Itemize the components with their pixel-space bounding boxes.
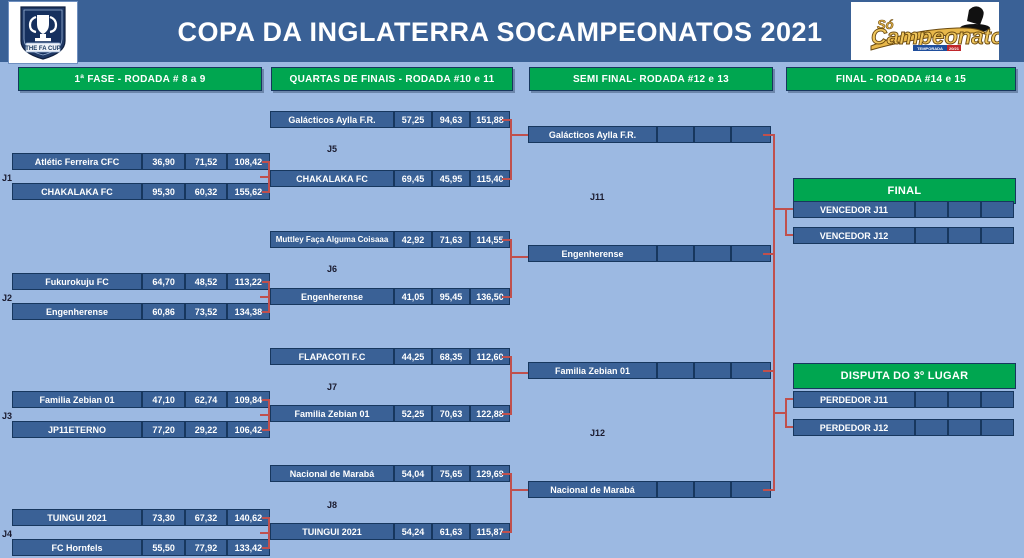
score-leg1: 55,50 — [142, 539, 185, 556]
match-code-j2: J2 — [2, 293, 12, 303]
team-name: PERDEDOR J11 — [793, 391, 915, 408]
match-j11-team-2[interactable]: Engenherense — [528, 245, 771, 262]
score-leg2 — [694, 126, 731, 143]
score-total — [981, 227, 1014, 244]
so-campeonatos-logo-graphic: Só Campeonatos TEMPORADA 20/21 — [851, 2, 999, 60]
score-leg2: 71,63 — [432, 231, 470, 248]
score-leg1: 54,04 — [394, 465, 432, 482]
score-leg2: 60,32 — [185, 183, 226, 200]
final-team-1[interactable]: VENCEDOR J11 — [793, 201, 1014, 218]
third-place-block-title: DISPUTA DO 3º LUGAR — [793, 363, 1016, 389]
score-leg1 — [915, 201, 948, 218]
fa-cup-logo-graphic: THE FA CUP — [15, 5, 71, 61]
match-j3-team-1[interactable]: Familia Zebian 01 47,10 62,74 109,84 — [12, 391, 270, 408]
score-leg2: 71,52 — [185, 153, 226, 170]
connector — [510, 489, 530, 491]
score-leg1: 60,86 — [142, 303, 185, 320]
score-leg2 — [694, 481, 731, 498]
score-leg1: 44,25 — [394, 348, 432, 365]
score-total — [981, 201, 1014, 218]
connector — [260, 296, 270, 298]
team-name: Fukurokuju FC — [12, 273, 142, 290]
team-name: VENCEDOR J11 — [793, 201, 915, 218]
match-j2-team-1[interactable]: Fukurokuju FC 64,70 48,52 113,22 — [12, 273, 270, 290]
connector — [785, 208, 787, 236]
score-total — [981, 391, 1014, 408]
score-leg2 — [694, 245, 731, 262]
connector — [510, 256, 530, 258]
third-place-team-1[interactable]: PERDEDOR J11 — [793, 391, 1014, 408]
connector — [510, 239, 512, 298]
round-header-4: FINAL - RODADA #14 e 15 — [786, 67, 1016, 91]
connector — [785, 426, 793, 428]
team-name: Familia Zebian 01 — [12, 391, 142, 408]
match-j11-team-1[interactable]: Galácticos Aylla F.R. — [528, 126, 771, 143]
team-name: FC Hornfels — [12, 539, 142, 556]
connector — [260, 176, 270, 178]
score-leg1: 36,90 — [142, 153, 185, 170]
match-code-j1: J1 — [2, 173, 12, 183]
final-team-2[interactable]: VENCEDOR J12 — [793, 227, 1014, 244]
team-name: CHAKALAKA FC — [270, 170, 394, 187]
connector — [785, 398, 787, 428]
match-code-j11: J11 — [590, 192, 605, 202]
match-code-j12: J12 — [590, 428, 605, 438]
team-name: Engenherense — [528, 245, 657, 262]
score-leg2: 45,95 — [432, 170, 470, 187]
score-leg1 — [915, 419, 948, 436]
score-leg1 — [657, 245, 694, 262]
connector — [510, 473, 512, 533]
score-leg1: 95,30 — [142, 183, 185, 200]
score-leg1: 77,20 — [142, 421, 185, 438]
connector — [785, 234, 793, 236]
connector — [510, 356, 512, 415]
match-j1-team-1[interactable]: Atlétic Ferreira CFC 36,90 71,52 108,42 — [12, 153, 270, 170]
so-campeonatos-logo: Só Campeonatos TEMPORADA 20/21 — [851, 2, 999, 60]
match-j2-team-2[interactable]: Engenherense 60,86 73,52 134,38 — [12, 303, 270, 320]
score-leg1: 47,10 — [142, 391, 185, 408]
score-leg2 — [948, 391, 981, 408]
score-leg2 — [948, 201, 981, 218]
team-name: TUINGUI 2021 — [12, 509, 142, 526]
score-leg2 — [948, 227, 981, 244]
score-leg1: 42,92 — [394, 231, 432, 248]
connector — [785, 398, 793, 400]
team-name: VENCEDOR J12 — [793, 227, 915, 244]
match-j7-team-1[interactable]: FLAPACOTI F.C 44,25 68,35 112,60 — [270, 348, 510, 365]
third-place-team-2[interactable]: PERDEDOR J12 — [793, 419, 1014, 436]
match-j5-team-2[interactable]: CHAKALAKA FC 69,45 45,95 115,40 — [270, 170, 510, 187]
score-leg1 — [657, 126, 694, 143]
match-j8-team-1[interactable]: Nacional de Marabá 54,04 75,65 129,69 — [270, 465, 510, 482]
match-j12-team-1[interactable]: Familia Zebian 01 — [528, 362, 771, 379]
connector — [510, 134, 530, 136]
team-name: Familia Zebian 01 — [528, 362, 657, 379]
connector — [510, 119, 512, 180]
connector — [785, 208, 793, 210]
team-name: Galácticos Aylla F.R. — [270, 111, 394, 128]
score-leg2: 77,92 — [185, 539, 226, 556]
team-name: Muttley Faça Alguma Coisaaa — [270, 231, 394, 248]
match-code-j8: J8 — [327, 500, 337, 510]
fa-cup-logo: THE FA CUP — [8, 1, 78, 64]
score-leg2: 68,35 — [432, 348, 470, 365]
score-total — [981, 419, 1014, 436]
bracket-page: THE FA CUP COPA DA INGLATERRA SOCAMPEONA… — [0, 0, 1024, 558]
match-j6-team-2[interactable]: Engenherense 41,05 95,45 136,50 — [270, 288, 510, 305]
score-leg1 — [657, 362, 694, 379]
round-header-2: QUARTAS DE FINAIS - RODADA #10 e 11 — [271, 67, 513, 91]
score-leg1: 54,24 — [394, 523, 432, 540]
match-j6-team-1[interactable]: Muttley Faça Alguma Coisaaa 42,92 71,63 … — [270, 231, 510, 248]
team-name: Atlétic Ferreira CFC — [12, 153, 142, 170]
page-title: COPA DA INGLATERRA SOCAMPEONATOS 2021 — [150, 12, 850, 52]
team-name: FLAPACOTI F.C — [270, 348, 394, 365]
score-leg2: 95,45 — [432, 288, 470, 305]
match-code-j7: J7 — [327, 382, 337, 392]
connector-spine — [773, 134, 775, 490]
match-code-j3: J3 — [2, 411, 12, 421]
match-j1-team-2[interactable]: CHAKALAKA FC 95,30 60,32 155,62 — [12, 183, 270, 200]
score-leg2 — [948, 419, 981, 436]
score-leg1: 64,70 — [142, 273, 185, 290]
team-name: TUINGUI 2021 — [270, 523, 394, 540]
match-j7-team-2[interactable]: Familia Zebian 01 52,25 70,63 122,88 — [270, 405, 510, 422]
connector — [260, 414, 270, 416]
svg-text:TEMPORADA: TEMPORADA — [917, 46, 943, 51]
score-leg1: 69,45 — [394, 170, 432, 187]
score-leg2: 94,63 — [432, 111, 470, 128]
team-name: CHAKALAKA FC — [12, 183, 142, 200]
score-leg2 — [694, 362, 731, 379]
team-name: Nacional de Marabá — [270, 465, 394, 482]
team-name: Familia Zebian 01 — [270, 405, 394, 422]
team-name: Galácticos Aylla F.R. — [528, 126, 657, 143]
score-leg1 — [915, 227, 948, 244]
score-leg2: 70,63 — [432, 405, 470, 422]
match-code-j4: J4 — [2, 529, 12, 539]
score-leg1: 52,25 — [394, 405, 432, 422]
team-name: JP11ETERNO — [12, 421, 142, 438]
score-leg2: 61,63 — [432, 523, 470, 540]
match-code-j6: J6 — [327, 264, 337, 274]
match-j12-team-2[interactable]: Nacional de Marabá — [528, 481, 771, 498]
score-leg1 — [657, 481, 694, 498]
match-j5-team-1[interactable]: Galácticos Aylla F.R. 57,25 94,63 151,88 — [270, 111, 510, 128]
score-leg2: 75,65 — [432, 465, 470, 482]
svg-text:THE FA CUP: THE FA CUP — [25, 46, 60, 52]
team-name: PERDEDOR J12 — [793, 419, 915, 436]
match-j3-team-2[interactable]: JP11ETERNO 77,20 29,22 106,42 — [12, 421, 270, 438]
connector — [260, 532, 270, 534]
match-code-j5: J5 — [327, 144, 337, 154]
svg-text:20/21: 20/21 — [949, 46, 960, 51]
score-leg1: 41,05 — [394, 288, 432, 305]
score-leg2: 48,52 — [185, 273, 226, 290]
team-name: Nacional de Marabá — [528, 481, 657, 498]
round-header-3: SEMI FINAL- RODADA #12 e 13 — [529, 67, 773, 91]
score-leg2: 62,74 — [185, 391, 226, 408]
match-j8-team-2[interactable]: TUINGUI 2021 54,24 61,63 115,87 — [270, 523, 510, 540]
team-name: Engenherense — [270, 288, 394, 305]
connector — [510, 372, 530, 374]
match-j4-team-2[interactable]: FC Hornfels 55,50 77,92 133,42 — [12, 539, 270, 556]
score-leg1: 73,30 — [142, 509, 185, 526]
match-j4-team-1[interactable]: TUINGUI 2021 73,30 67,32 140,62 — [12, 509, 270, 526]
score-leg1 — [915, 391, 948, 408]
score-leg2: 67,32 — [185, 509, 226, 526]
score-leg2: 73,52 — [185, 303, 226, 320]
score-leg2: 29,22 — [185, 421, 226, 438]
score-leg1: 57,25 — [394, 111, 432, 128]
team-name: Engenherense — [12, 303, 142, 320]
round-header-1: 1ª FASE - RODADA # 8 a 9 — [18, 67, 262, 91]
